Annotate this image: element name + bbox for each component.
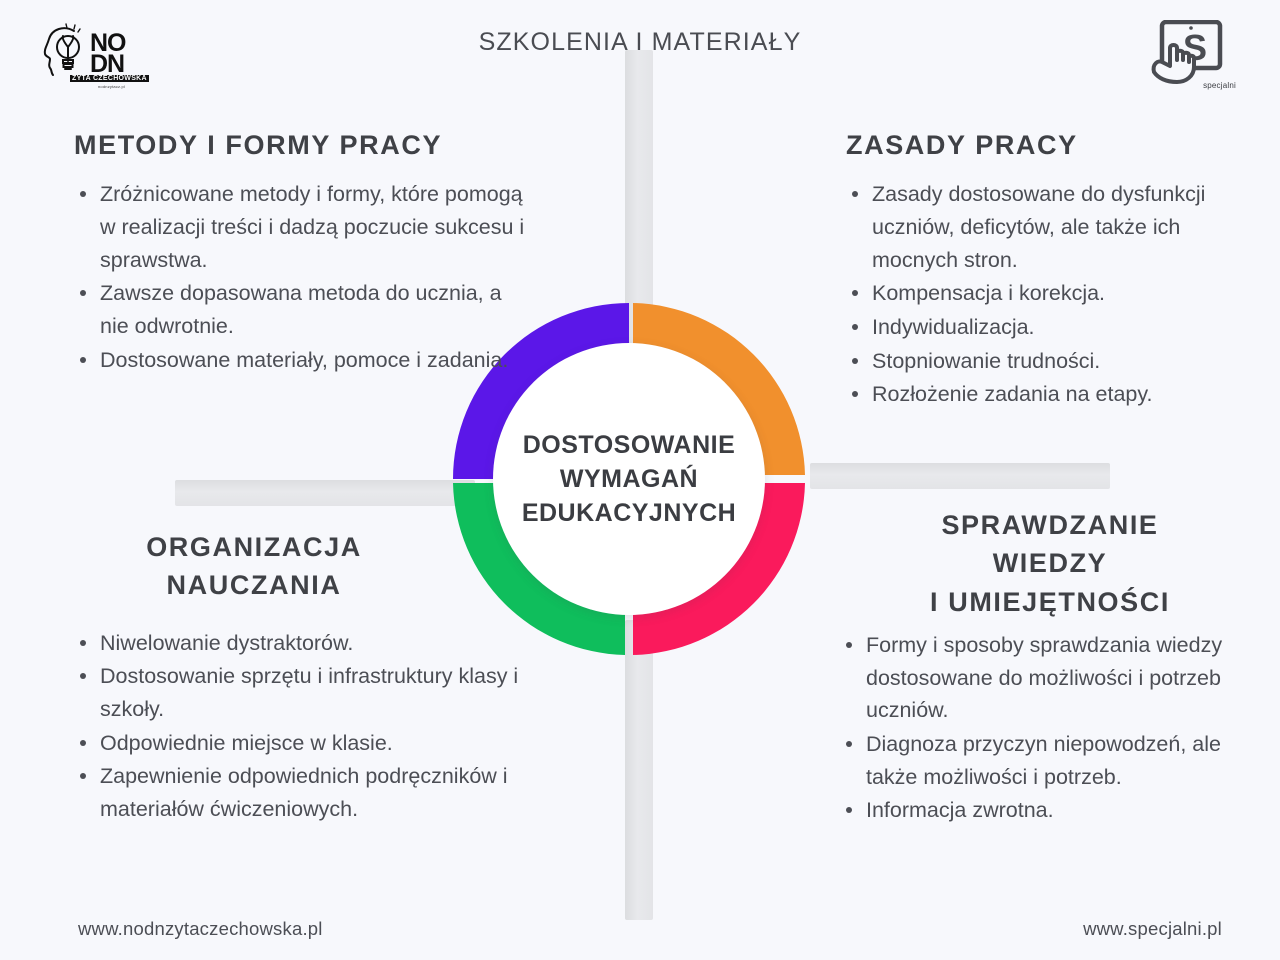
heading-line-1: ORGANIZACJA xyxy=(146,532,362,562)
nodn-line-2: DN xyxy=(90,54,126,76)
center-line-1: DOSTOSOWANIE xyxy=(523,429,736,461)
list-item: Indywidualizacja. xyxy=(846,311,1256,344)
connector-bar-left xyxy=(175,480,475,506)
connector-bar-right xyxy=(810,463,1110,489)
specjalni-logo: S specjalni xyxy=(1146,20,1238,92)
heading-line-3: I UMIEJĘTNOŚCI xyxy=(930,587,1170,617)
list-item: Stopniowanie trudności. xyxy=(846,345,1256,378)
quadrant-organization-heading: ORGANIZACJA NAUCZANIA xyxy=(74,528,434,605)
quadrant-methods: METODY I FORMY PRACY Zróżnicowane metody… xyxy=(74,126,534,377)
quadrant-assessment-list: Formy i sposoby sprawdzania wiedzy dosto… xyxy=(840,629,1260,827)
list-item: Zróżnicowane metody i formy, które pomog… xyxy=(74,178,534,276)
heading-line-2: WIEDZY xyxy=(993,548,1108,578)
infographic-canvas: SZKOLENIA I MATERIAŁY NO DN ZYTA CZECHOW… xyxy=(0,0,1280,960)
quadrant-assessment-heading: SPRAWDZANIE WIEDZY I UMIEJĘTNOŚCI xyxy=(840,506,1260,621)
nodn-logo: NO DN ZYTA CZECHOWSKA nodnzytacz.pl xyxy=(42,18,152,90)
quadrant-rules-heading: ZASADY PRACY xyxy=(846,126,1256,164)
heading-line-1: SPRAWDZANIE xyxy=(941,510,1158,540)
quadrant-methods-heading: METODY I FORMY PRACY xyxy=(74,126,534,164)
list-item: Zawsze dopasowana metoda do ucznia, a ni… xyxy=(74,277,534,342)
quadrant-methods-list: Zróżnicowane metody i formy, które pomog… xyxy=(74,178,534,376)
list-item: Kompensacja i korekcja. xyxy=(846,277,1256,310)
quadrant-organization: ORGANIZACJA NAUCZANIA Niwelowanie dystra… xyxy=(74,528,534,827)
quadrant-assessment: SPRAWDZANIE WIEDZY I UMIEJĘTNOŚCI Formy … xyxy=(840,506,1260,828)
list-item: Formy i sposoby sprawdzania wiedzy dosto… xyxy=(840,629,1260,727)
list-item: Rozłożenie zadania na etapy. xyxy=(846,378,1256,411)
quadrant-organization-list: Niwelowanie dystraktorów. Dostosowanie s… xyxy=(74,627,534,826)
nodn-subtitle-2: nodnzytacz.pl xyxy=(98,84,125,89)
footer-url-right[interactable]: www.specjalni.pl xyxy=(1083,918,1222,940)
list-item: Niwelowanie dystraktorów. xyxy=(74,627,534,660)
heading-line-2: NAUCZANIA xyxy=(167,570,342,600)
list-item: Zapewnienie odpowiednich podręczników i … xyxy=(74,760,534,825)
specjalni-label: specjalni xyxy=(1203,81,1236,90)
list-item: Odpowiednie miejsce w klasie. xyxy=(74,727,534,760)
list-item: Dostosowane materiały, pomoce i zadania. xyxy=(74,344,534,377)
list-item: Zasady dostosowane do dysfunkcji uczniów… xyxy=(846,178,1256,276)
quadrant-rules: ZASADY PRACY Zasady dostosowane do dysfu… xyxy=(846,126,1256,412)
page-title: SZKOLENIA I MATERIAŁY xyxy=(0,28,1280,57)
footer-url-left[interactable]: www.nodnzytaczechowska.pl xyxy=(78,918,323,940)
list-item: Dostosowanie sprzętu i infrastruktury kl… xyxy=(74,660,534,725)
center-line-2: WYMAGAŃ xyxy=(560,463,698,495)
list-item: Diagnoza przyczyn niepowodzeń, ale także… xyxy=(840,728,1260,793)
quadrant-rules-list: Zasady dostosowane do dysfunkcji uczniów… xyxy=(846,178,1256,411)
center-line-3: EDUKACYJNYCH xyxy=(522,497,736,529)
nodn-subtitle: ZYTA CZECHOWSKA xyxy=(70,75,149,82)
list-item: Informacja zwrotna. xyxy=(840,794,1260,827)
nodn-wordmark: NO DN xyxy=(90,33,126,76)
